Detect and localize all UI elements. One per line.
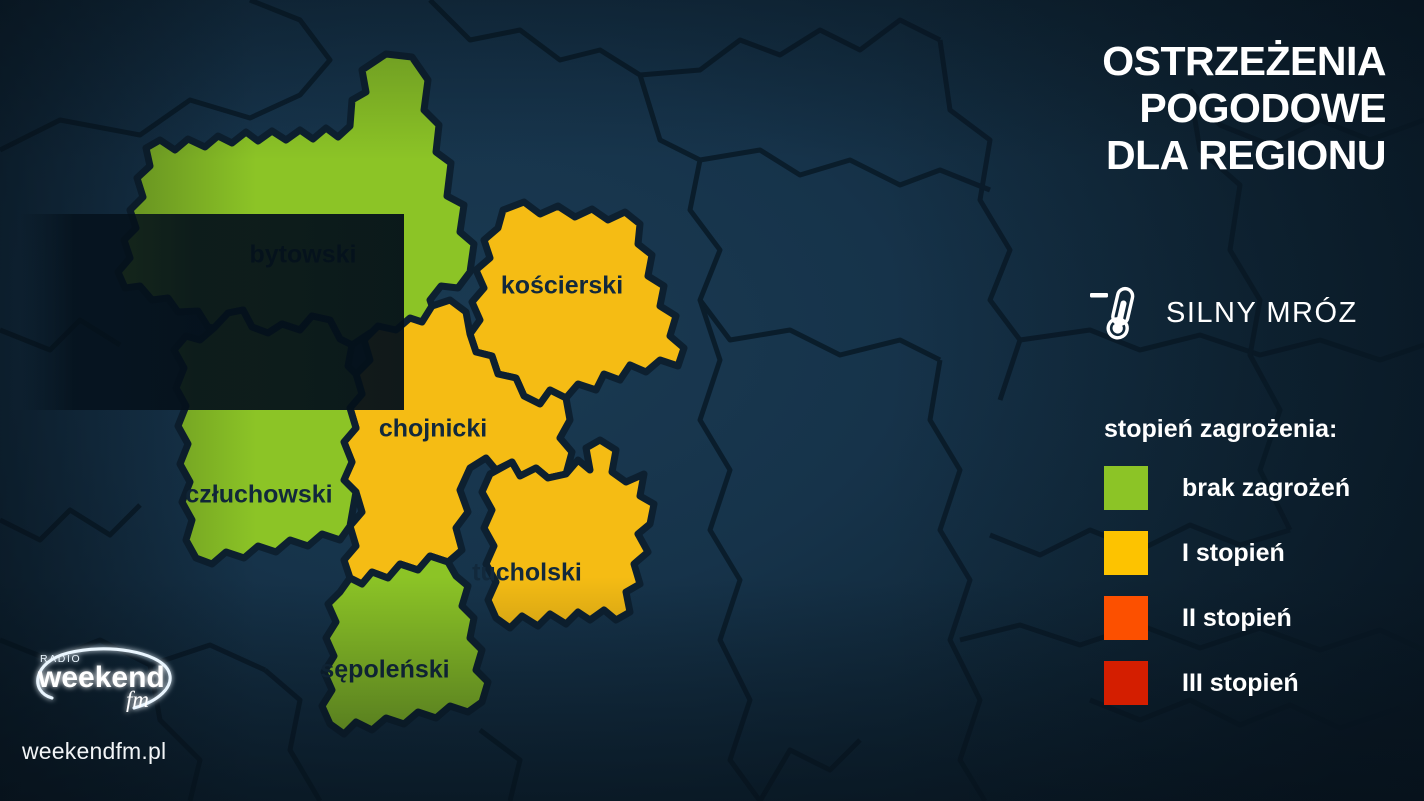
- thermometer-minus-icon: [1090, 282, 1144, 344]
- legend-row-stopien-2[interactable]: II stopień: [1104, 596, 1414, 640]
- page-title: OSTRZEŻENIA POGODOWE DLA REGIONU: [1038, 38, 1386, 179]
- warning-panel-background: [20, 214, 404, 410]
- title-line-2: POGODOWE: [1038, 85, 1386, 132]
- legend-row-stopien-1[interactable]: I stopień: [1104, 531, 1414, 575]
- legend-label-stopien-3: III stopień: [1182, 669, 1299, 698]
- branding-block[interactable]: RADIO weekend fm weekendfm.pl: [22, 640, 222, 765]
- legend-swatch-green: [1104, 466, 1148, 510]
- legend-row-brak-zagrozen[interactable]: brak zagrożeń: [1104, 466, 1414, 510]
- title-line-1: OSTRZEŻENIA: [1038, 38, 1386, 85]
- legend-label-stopien-2: II stopień: [1182, 604, 1292, 633]
- legend-label-brak-zagrozen: brak zagrożeń: [1182, 474, 1350, 503]
- infographic-canvas: bytowski kościerski chojnicki człuchowsk…: [0, 0, 1424, 801]
- legend-swatch-yellow: [1104, 531, 1148, 575]
- legend-swatch-orange: [1104, 596, 1148, 640]
- legend-title: stopień zagrożenia:: [1104, 415, 1414, 444]
- title-line-3: DLA REGIONU: [1038, 132, 1386, 179]
- site-url[interactable]: weekendfm.pl: [22, 738, 222, 765]
- legend-row-stopien-3[interactable]: III stopień: [1104, 661, 1414, 705]
- weekend-fm-logo: RADIO weekend fm: [22, 640, 188, 724]
- legend: stopień zagrożenia: brak zagrożeń I stop…: [1104, 415, 1414, 726]
- warning-type-row: SILNY MRÓZ: [1090, 282, 1358, 344]
- warning-type-label: SILNY MRÓZ: [1166, 297, 1358, 330]
- legend-label-stopien-1: I stopień: [1182, 539, 1285, 568]
- legend-swatch-red: [1104, 661, 1148, 705]
- logo-fm-text: fm: [126, 687, 149, 712]
